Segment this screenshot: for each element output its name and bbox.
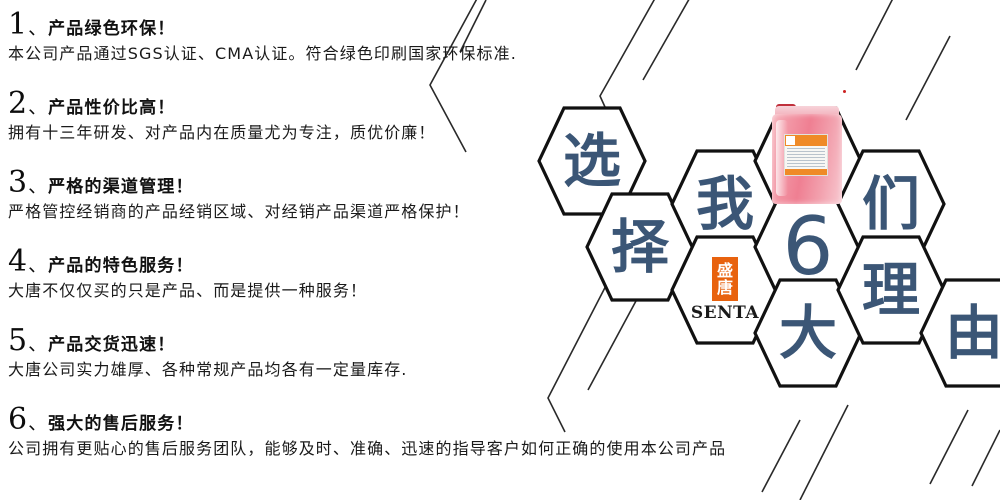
- logo-wordmark: SENTA: [691, 303, 759, 323]
- can-label-footer: [785, 169, 827, 175]
- product-image: [770, 100, 844, 204]
- hexagon-you: 由: [918, 277, 1000, 389]
- logo-seal-char-bottom: 唐: [717, 279, 733, 296]
- can-label-header: [785, 135, 827, 146]
- can-label: [784, 134, 828, 176]
- banner-canvas: 1 、 产品绿色环保！ 本公司产品通过SGS认证、CMA认证。符合绿色印刷国家环…: [0, 0, 1000, 500]
- logo-seal-char-top: 盛: [717, 262, 733, 279]
- logo-seal: 盛 唐: [712, 257, 738, 301]
- hexagon-label: 由: [918, 277, 1000, 389]
- hexagon-cluster: 选 择 我 盛 唐 SENTA: [0, 0, 1000, 500]
